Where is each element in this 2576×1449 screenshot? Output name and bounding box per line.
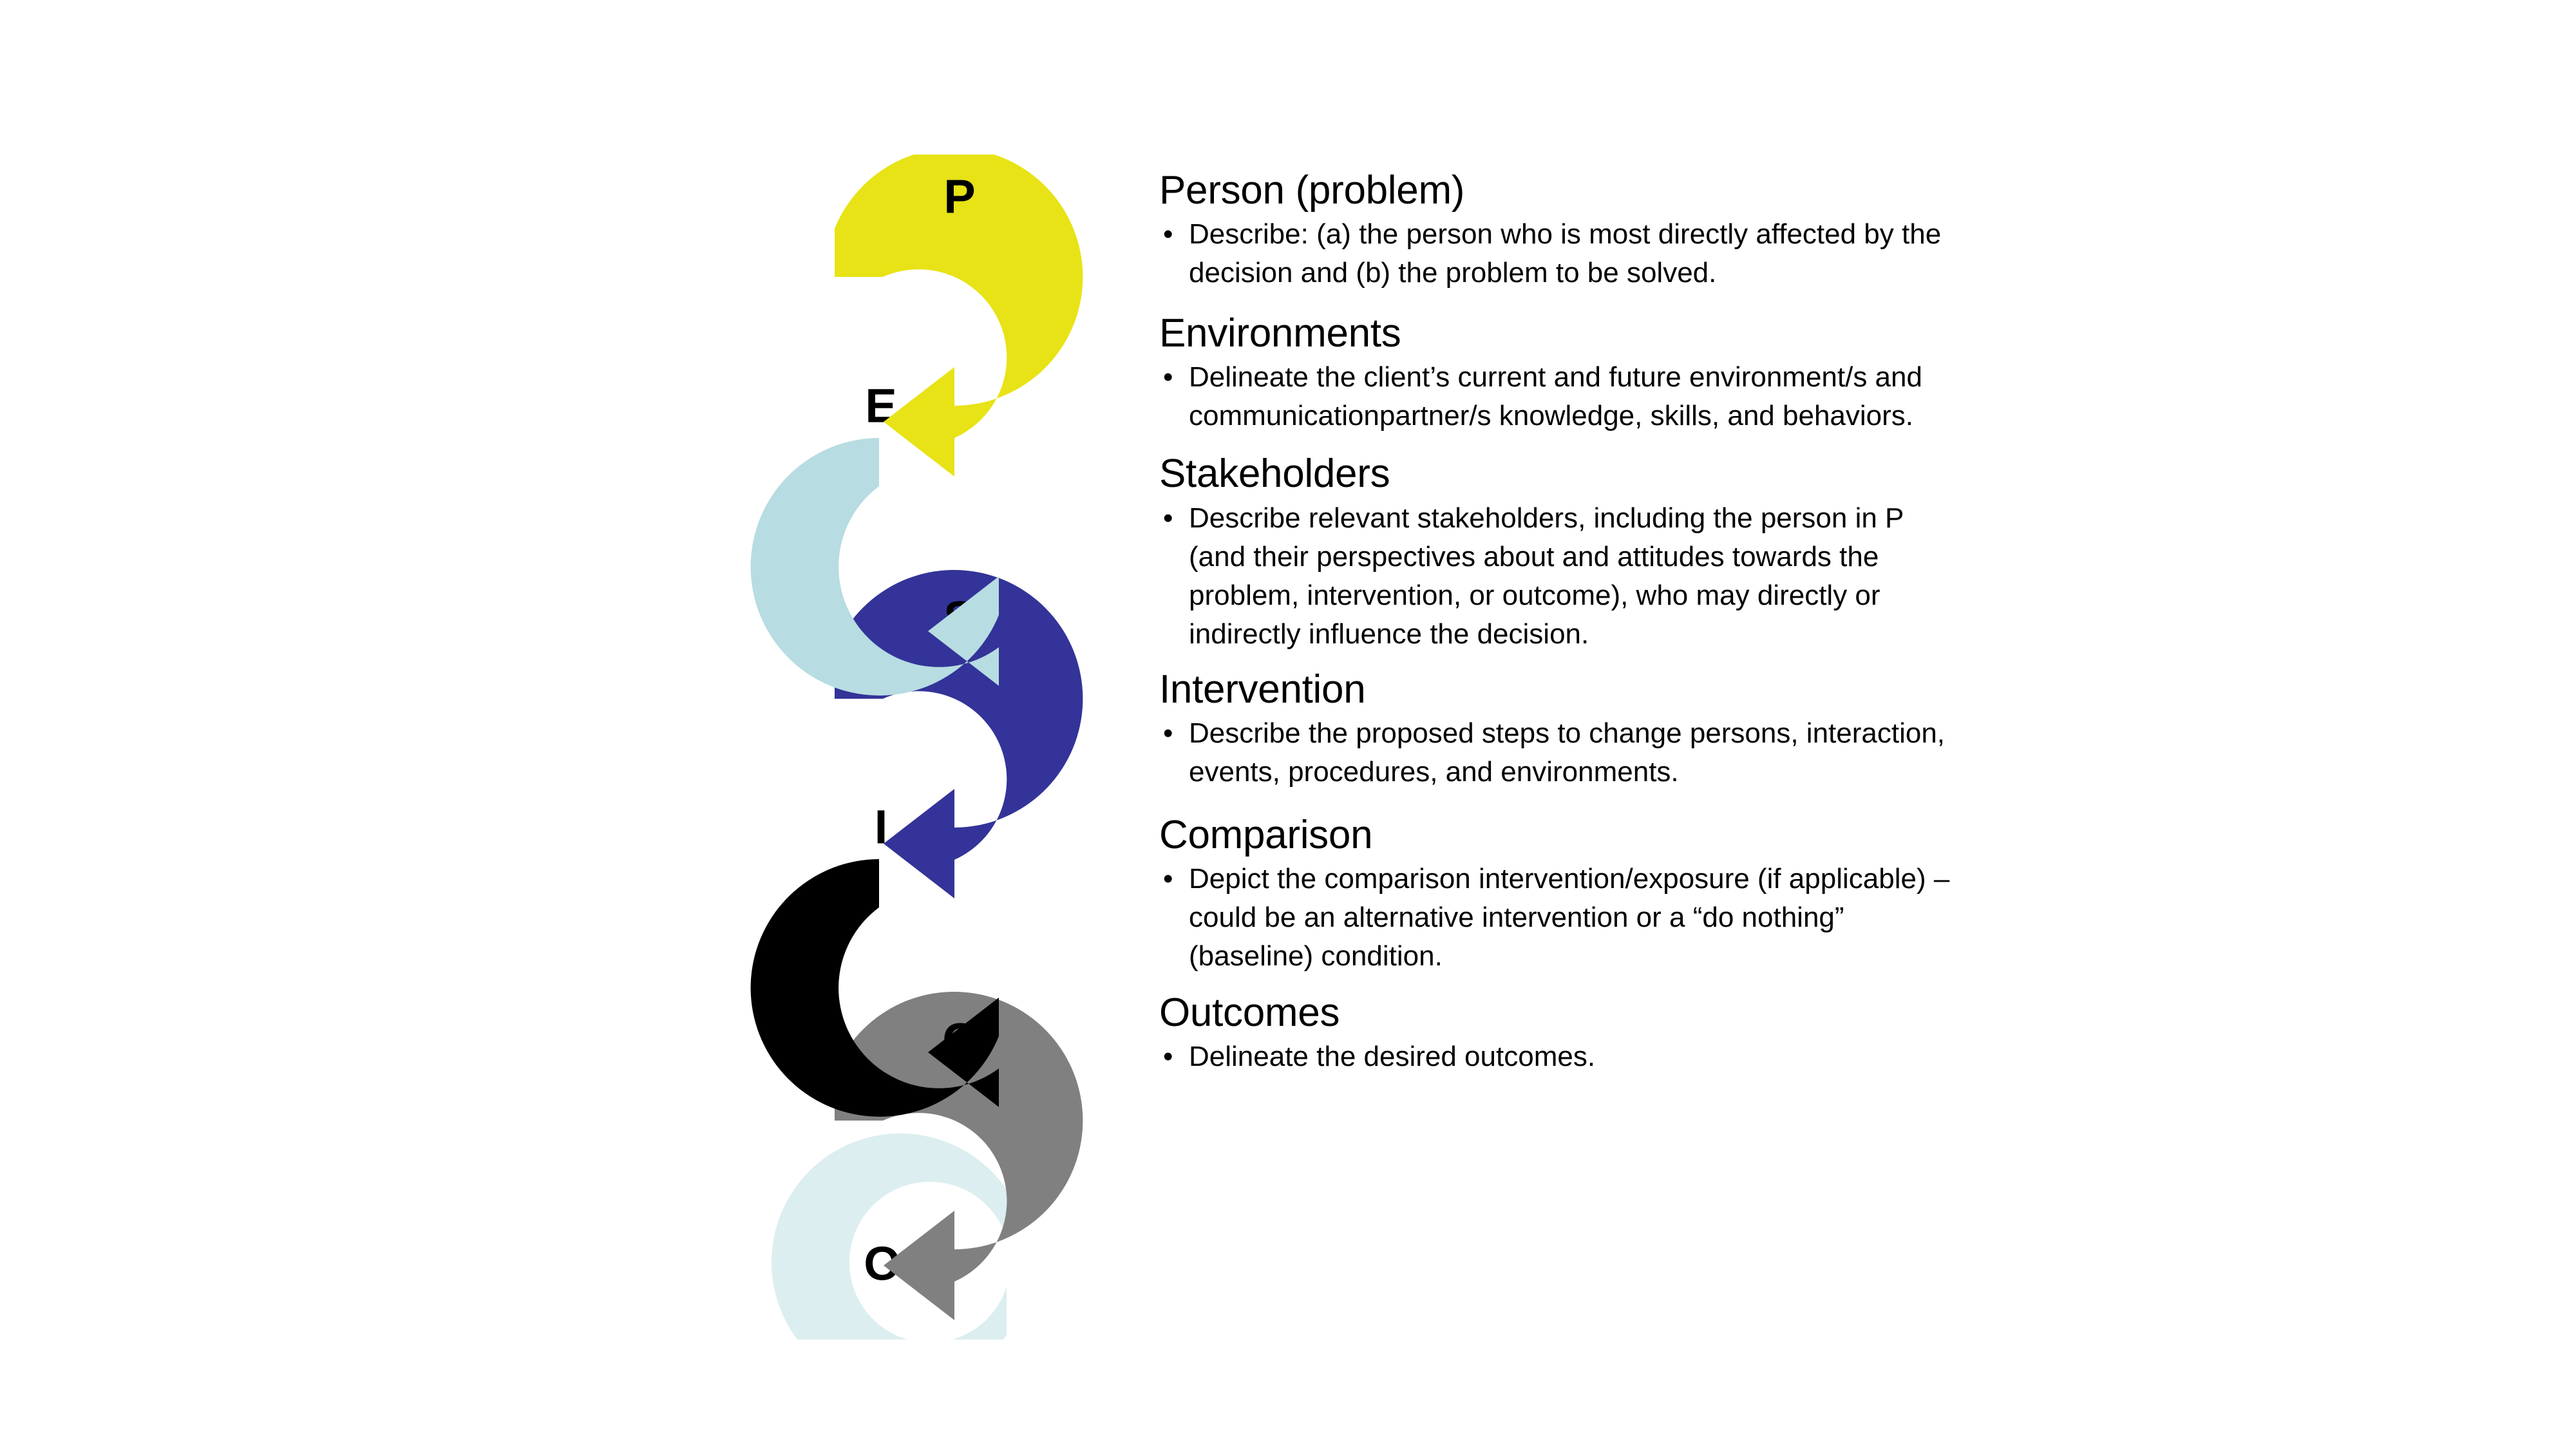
section-heading-outcomes: Outcomes xyxy=(1159,991,2164,1035)
bullet-outcomes: • Delineate the desired outcomes. xyxy=(1159,1037,2164,1076)
section-stakeholders: Stakeholders • Describe relevant stakeho… xyxy=(1159,452,2164,653)
bullet-marker-icon: • xyxy=(1159,499,1189,538)
section-heading-intervention: Intervention xyxy=(1159,668,2164,712)
intervention-ring-letter: I xyxy=(875,800,888,854)
bullet-intervention: • Describe the proposed steps to change … xyxy=(1159,714,2164,791)
bullet-person: • Describe: (a) the person who is most d… xyxy=(1159,215,2164,292)
section-intervention: Intervention • Describe the proposed ste… xyxy=(1159,668,2164,791)
section-person: Person (problem) • Describe: (a) the per… xyxy=(1159,169,2164,292)
person-ring-letter: P xyxy=(943,170,975,223)
bullet-marker-icon: • xyxy=(1159,215,1189,254)
bullet-marker-icon: • xyxy=(1159,1037,1189,1076)
bullet-text-environments: Delineate the client’s current and futur… xyxy=(1189,358,2164,435)
section-heading-stakeholders: Stakeholders xyxy=(1159,452,2164,496)
pesico-definitions-list: Person (problem) • Describe: (a) the per… xyxy=(1159,169,2164,1076)
bullet-environments: • Delineate the client’s current and fut… xyxy=(1159,358,2164,435)
bullet-text-comparison: Depict the comparison intervention/expos… xyxy=(1189,860,2164,976)
section-heading-environments: Environments xyxy=(1159,312,2164,355)
section-heading-comparison: Comparison xyxy=(1159,813,2164,857)
bullet-text-person: Describe: (a) the person who is most dir… xyxy=(1189,215,2164,292)
bullet-comparison: • Depict the comparison intervention/exp… xyxy=(1159,860,2164,976)
intervention-ring-arc xyxy=(751,859,999,1117)
pesico-cycle-diagram: O C I S E xyxy=(696,155,1146,1340)
outcomes-ring: O xyxy=(772,1133,1007,1340)
bullet-text-stakeholders: Describe relevant stakeholders, includin… xyxy=(1189,499,2164,654)
bullet-text-outcomes: Delineate the desired outcomes. xyxy=(1189,1037,2164,1076)
slide-canvas: O C I S E xyxy=(0,0,2576,1449)
bullet-marker-icon: • xyxy=(1159,860,1189,898)
section-comparison: Comparison • Depict the comparison inter… xyxy=(1159,813,2164,976)
environments-ring-arc xyxy=(751,438,999,696)
section-heading-person: Person (problem) xyxy=(1159,169,2164,213)
bullet-marker-icon: • xyxy=(1159,714,1189,753)
section-environments: Environments • Delineate the client’s cu… xyxy=(1159,312,2164,435)
bullet-stakeholders: • Describe relevant stakeholders, includ… xyxy=(1159,499,2164,654)
bullet-text-intervention: Describe the proposed steps to change pe… xyxy=(1189,714,2164,791)
section-outcomes: Outcomes • Delineate the desired outcome… xyxy=(1159,991,2164,1076)
bullet-marker-icon: • xyxy=(1159,358,1189,397)
